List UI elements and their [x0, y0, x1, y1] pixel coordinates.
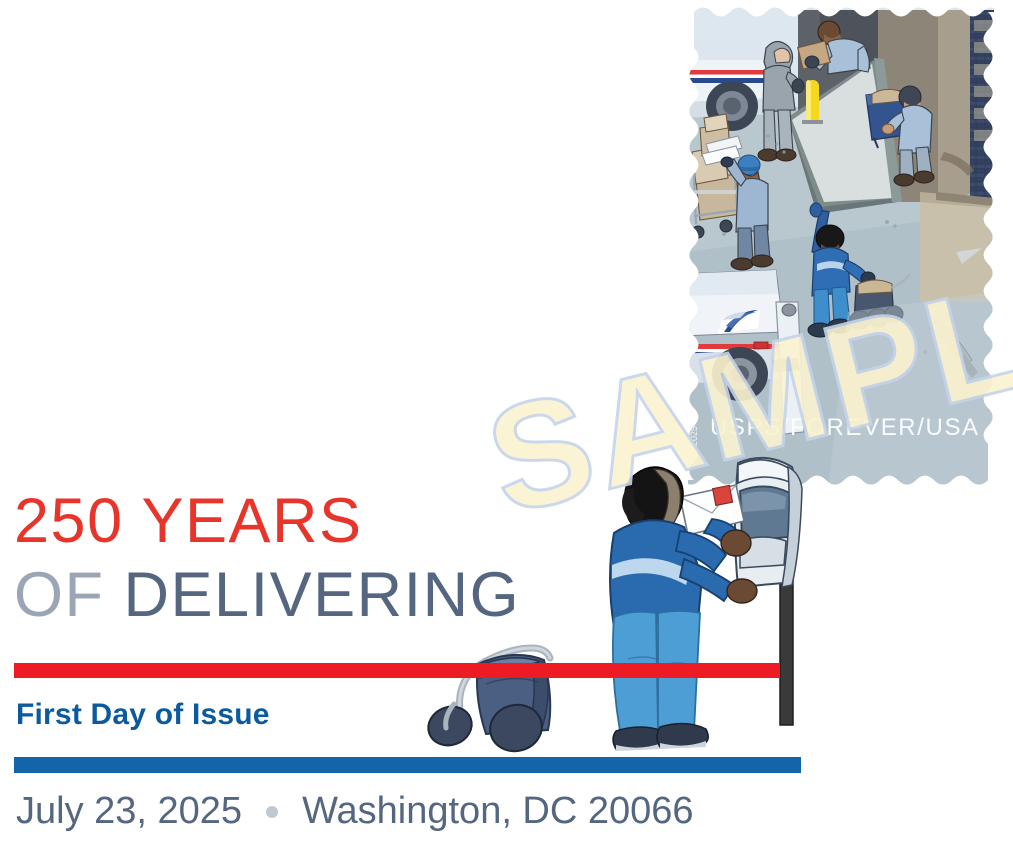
red-rule [14, 663, 780, 678]
bullet-separator-icon [266, 806, 278, 818]
headline-space [105, 560, 124, 630]
stamp-on-envelope [713, 485, 733, 505]
headline-line-1: 250 YEARS [14, 484, 654, 558]
carrier-hand-lower [727, 579, 757, 603]
first-day-of-issue-label: First Day of Issue [16, 698, 270, 732]
issue-details-line: July 23, 2025 Washington, DC 20066 [16, 790, 694, 833]
postage-stamp: USPS/FOREVER/USA 2025 [688, 2, 994, 490]
stamp-year-text: 2025 [689, 426, 699, 446]
headline-word-delivering: DELIVERING [124, 560, 521, 630]
headline-block: 250 YEARS OF DELIVERING [14, 484, 654, 632]
stamp-denomination-text: USPS/FOREVER/USA [710, 414, 980, 441]
carrier-hand-upper [721, 530, 751, 556]
rolling-mail-cart-figure [420, 640, 630, 760]
issue-location: Washington, DC 20066 [302, 790, 694, 833]
issue-date: July 23, 2025 [16, 790, 242, 833]
stamp-artwork: USPS/FOREVER/USA 2025 [688, 2, 994, 490]
blue-rule [14, 757, 801, 773]
collection-mailbox [735, 458, 802, 587]
headline-line-2: OF DELIVERING [14, 558, 654, 632]
headline-word-of: OF [14, 560, 105, 630]
